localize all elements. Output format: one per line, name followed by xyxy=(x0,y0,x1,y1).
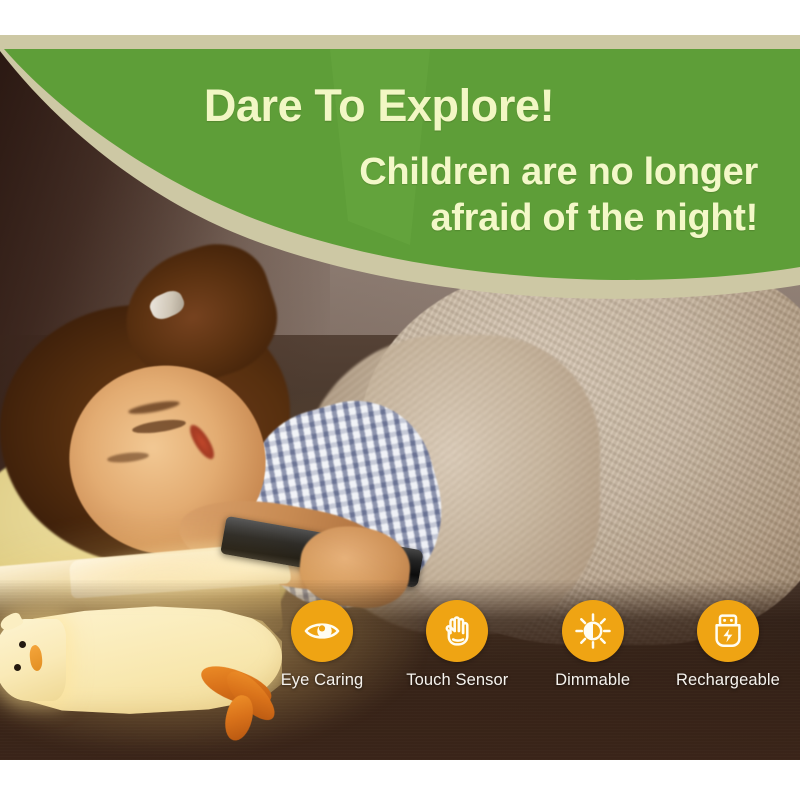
duck-eye-lower xyxy=(14,664,21,671)
feature-label: Dimmable xyxy=(555,671,630,690)
feature-rechargeable[interactable]: Rechargeable xyxy=(664,600,792,690)
feature-label: Touch Sensor xyxy=(406,671,508,690)
usb-plug-icon xyxy=(709,612,747,650)
feature-badge-circle xyxy=(291,600,353,662)
feature-badge-circle xyxy=(697,600,759,662)
sun-brightness-icon xyxy=(574,612,612,650)
duck-eye-upper xyxy=(19,641,26,648)
feature-label: Eye Caring xyxy=(281,671,364,690)
feature-dimmable[interactable]: Dimmable xyxy=(529,600,657,690)
feature-list: Eye Caring Touch Sens xyxy=(258,600,792,718)
hand-icon xyxy=(438,612,476,650)
feature-badge-circle xyxy=(426,600,488,662)
feature-badge-circle xyxy=(562,600,624,662)
feature-touch-sensor[interactable]: Touch Sensor xyxy=(393,600,521,690)
product-photo: Dare To Explore! Children are no longer … xyxy=(0,35,800,760)
duck-night-light[interactable] xyxy=(0,597,284,722)
feature-label: Rechargeable xyxy=(676,671,780,690)
eye-icon xyxy=(303,612,341,650)
product-image-stage: Dare To Explore! Children are no longer … xyxy=(0,0,800,800)
